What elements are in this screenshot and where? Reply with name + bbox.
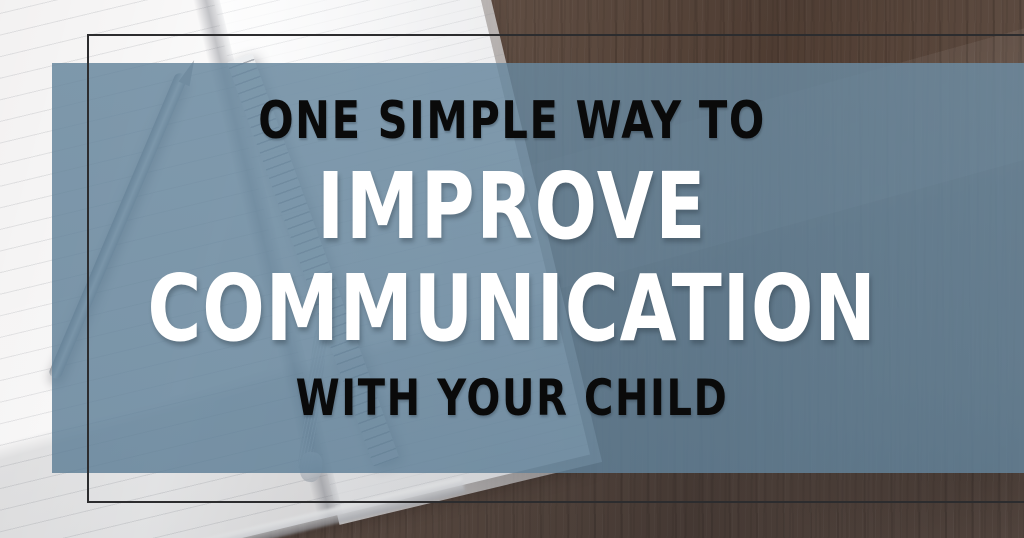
headline-line-2: IMPROVE — [102, 161, 921, 253]
headline-line-4: WITH YOUR CHILD — [102, 373, 921, 423]
poster-canvas: ONE SIMPLE WAY TO IMPROVE COMMUNICATION … — [0, 0, 1024, 538]
headline-block: ONE SIMPLE WAY TO IMPROVE COMMUNICATION … — [0, 95, 1024, 423]
headline-line-1: ONE SIMPLE WAY TO — [102, 95, 921, 147]
headline-line-3: COMMUNICATION — [102, 263, 921, 355]
